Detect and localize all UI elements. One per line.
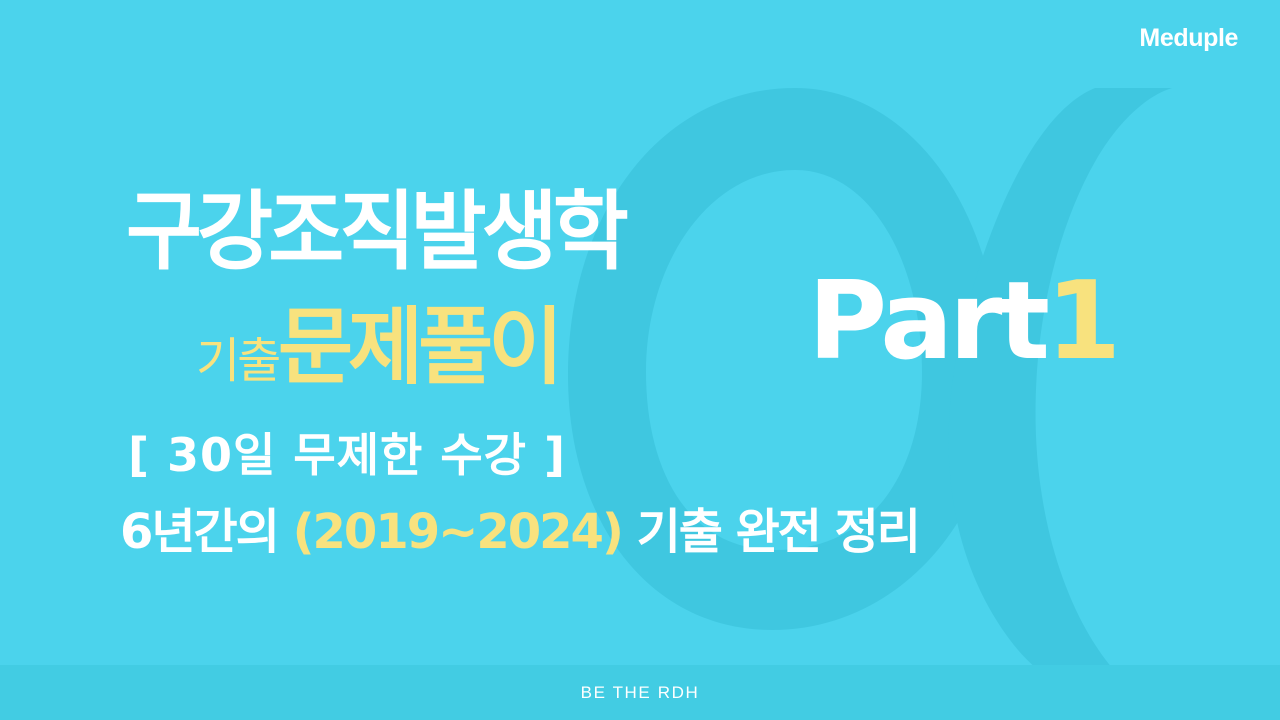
footer-tagline: BE THE RDH: [581, 683, 700, 703]
part-word: Part: [808, 259, 1046, 384]
page-title: 구강조직발생학: [126, 189, 624, 275]
footer-band: BE THE RDH: [0, 665, 1280, 720]
subtitle-row: 기출 문제풀이: [196, 305, 567, 389]
part-number: 1: [1046, 259, 1117, 384]
subtitle-main: 문제풀이: [278, 305, 558, 389]
subtitle-qualifier: 기출: [196, 337, 278, 389]
promo-slide: Meduple 구강조직발생학 기출 문제풀이 Part1 [ 30일 무제한 …: [0, 0, 1280, 720]
coverage-prefix: 6년간의: [120, 504, 293, 560]
access-duration-line: [ 30일 무제한 수강 ]: [128, 432, 566, 478]
headline-block: 구강조직발생학 기출 문제풀이 Part1 [ 30일 무제한 수강 ] 6년간…: [0, 0, 1280, 720]
coverage-years: (2019~2024): [293, 504, 622, 560]
coverage-line: 6년간의 (2019~2024) 기출 완전 정리: [120, 508, 919, 556]
coverage-suffix: 기출 완전 정리: [622, 504, 919, 560]
part-label: Part1: [808, 268, 1117, 376]
